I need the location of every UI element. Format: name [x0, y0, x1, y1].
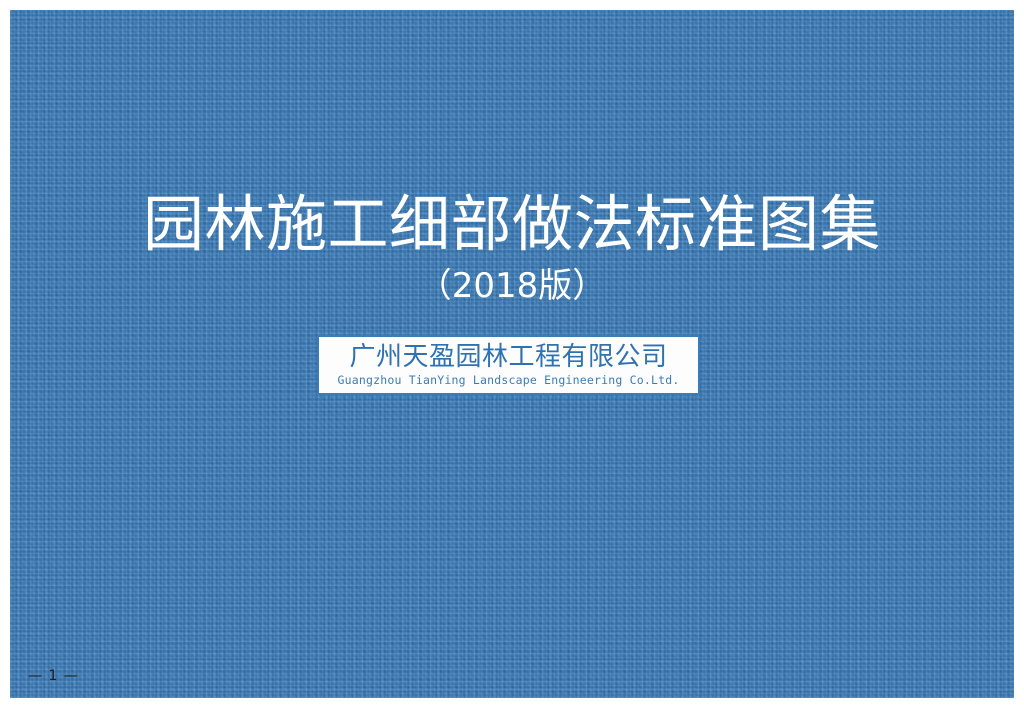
title-block: 园林施工细部做法标准图集 （2018版）	[10, 188, 1014, 308]
company-name-english: Guangzhou TianYing Landscape Engineering…	[338, 373, 680, 388]
page-subtitle: （2018版）	[10, 264, 1014, 308]
page-title: 园林施工细部做法标准图集	[10, 188, 1014, 262]
page-number: — 1 —	[28, 668, 79, 684]
document-page: 园林施工细部做法标准图集 （2018版） 广州天盈园林工程有限公司 Guangz…	[0, 0, 1024, 709]
slide-canvas: 园林施工细部做法标准图集 （2018版） 广州天盈园林工程有限公司 Guangz…	[10, 10, 1014, 698]
company-name-box: 广州天盈园林工程有限公司 Guangzhou TianYing Landscap…	[317, 335, 700, 395]
company-name-chinese: 广州天盈园林工程有限公司	[349, 342, 667, 372]
